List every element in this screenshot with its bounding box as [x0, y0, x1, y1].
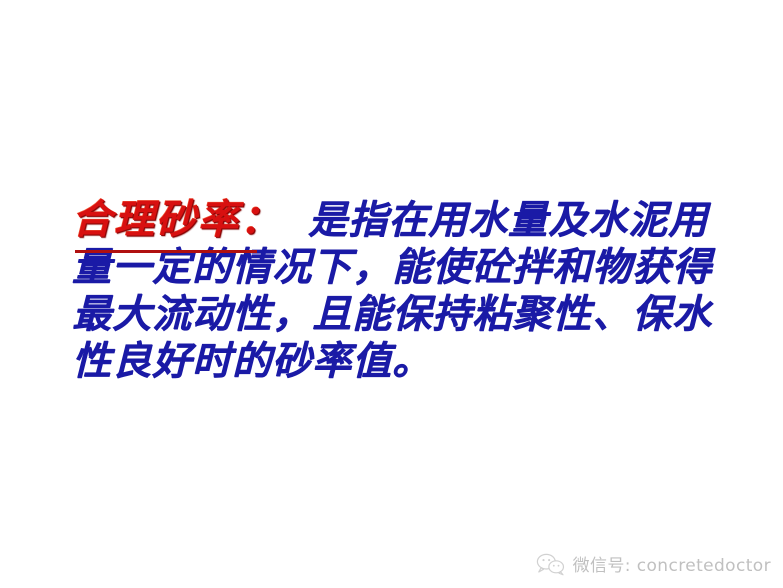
definition-paragraph: 合理砂率：是指在用水量及水泥用量一定的情况下，能使砼拌和物获得最大流动性，且能保… — [72, 196, 712, 385]
definition-block: 合理砂率：是指在用水量及水泥用量一定的情况下，能使砼拌和物获得最大流动性，且能保… — [72, 196, 712, 385]
wechat-icon — [536, 552, 566, 576]
term-underline — [75, 250, 257, 253]
watermark-label: 微信号: concretedoctor — [573, 551, 771, 576]
term-heading: 合理砂率： — [72, 196, 284, 243]
slide-canvas: 合理砂率：是指在用水量及水泥用量一定的情况下，能使砼拌和物获得最大流动性，且能保… — [0, 0, 783, 588]
watermark: 微信号: concretedoctor — [536, 551, 771, 576]
